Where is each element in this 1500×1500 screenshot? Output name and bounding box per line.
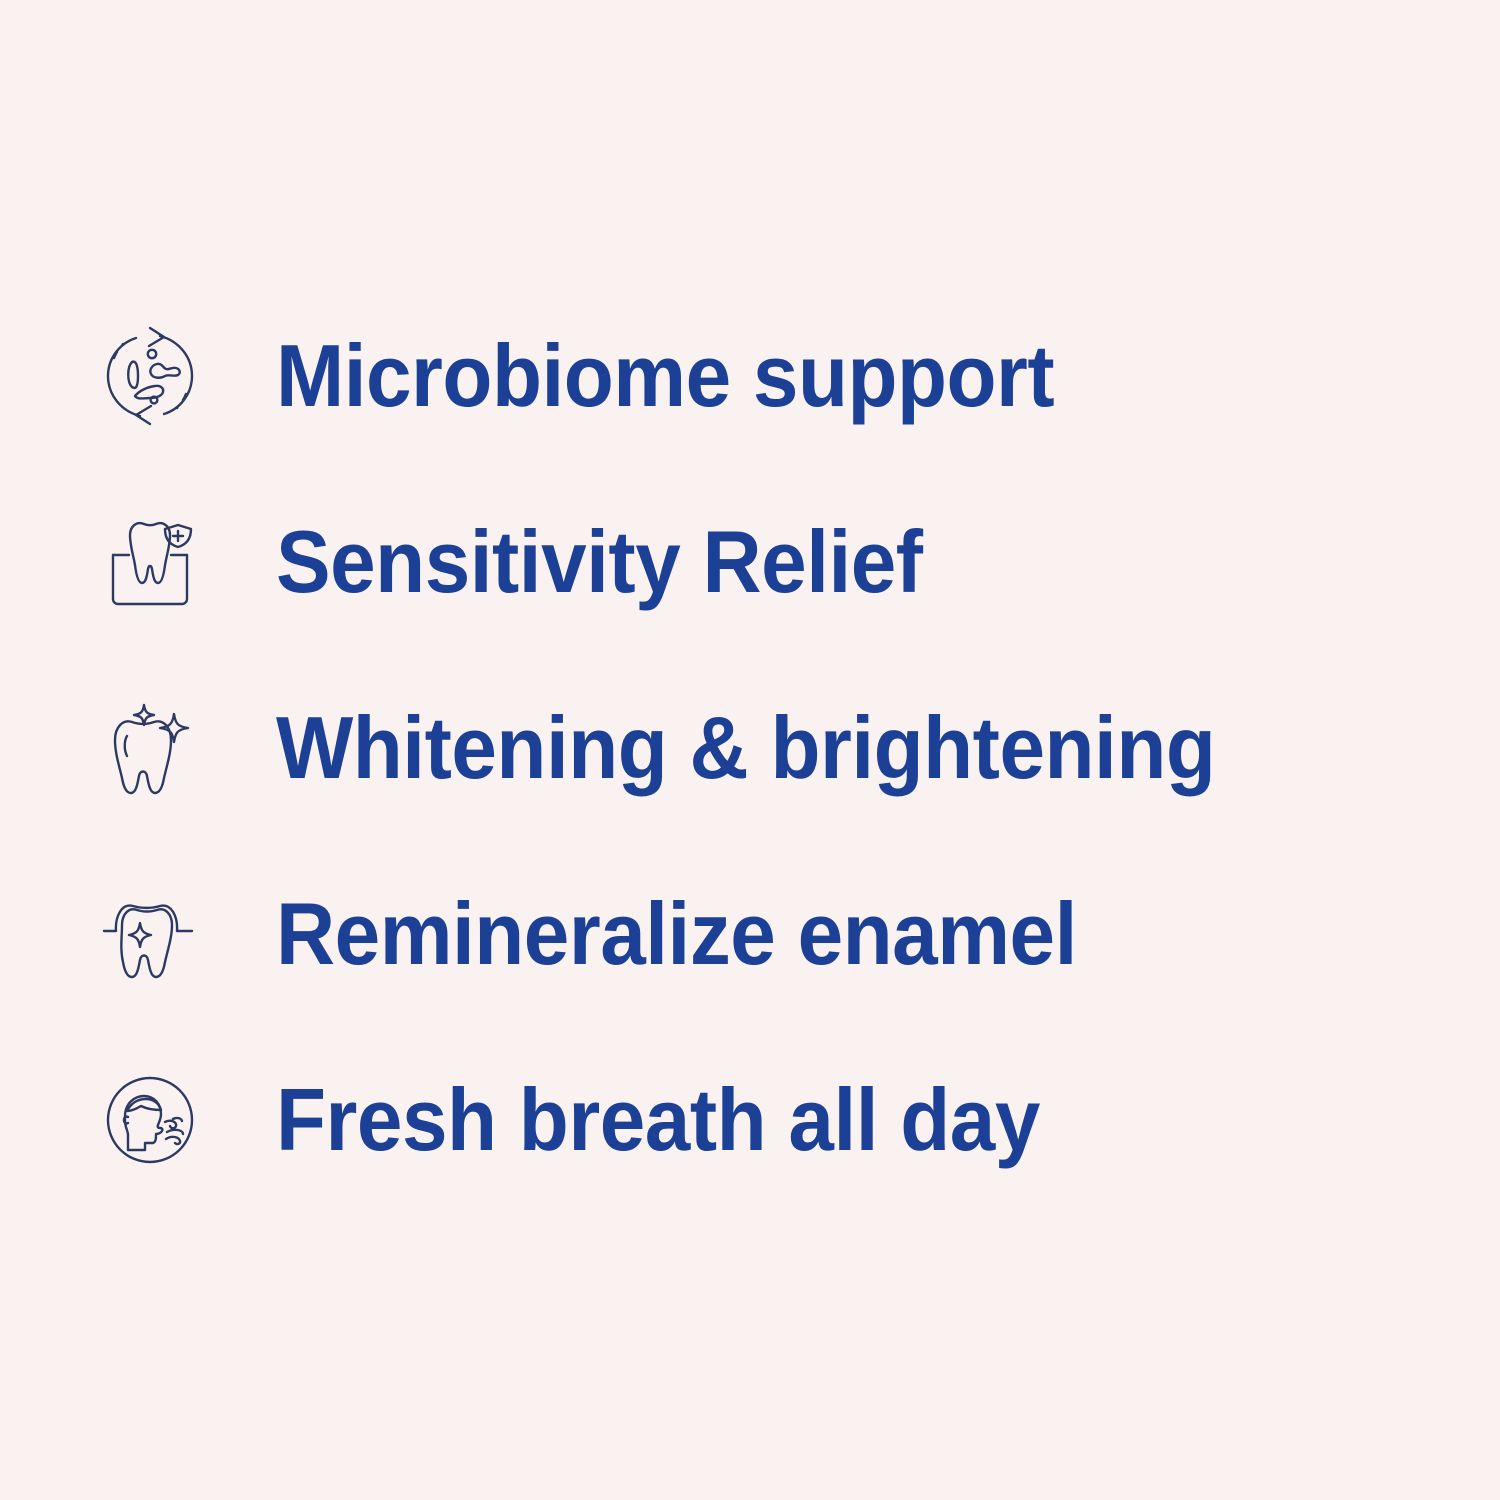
benefit-label-whitening-brightening: Whitening & brightening bbox=[276, 704, 1215, 792]
benefit-label-microbiome-support: Microbiome support bbox=[276, 332, 1054, 420]
benefits-panel: Microbiome support Sensitivity Relie bbox=[0, 0, 1500, 1500]
tooth-enamel-layer-icon bbox=[100, 879, 200, 989]
fresh-breath-head-icon bbox=[100, 1065, 200, 1175]
benefit-label-remineralize-enamel: Remineralize enamel bbox=[276, 890, 1077, 978]
benefit-row-microbiome-support: Microbiome support bbox=[100, 283, 1420, 469]
tooth-gum-shield-icon bbox=[100, 507, 200, 617]
benefit-row-sensitivity-relief: Sensitivity Relief bbox=[100, 469, 1420, 655]
microbiome-cycle-icon bbox=[100, 321, 200, 431]
benefit-label-fresh-breath-all-day: Fresh breath all day bbox=[276, 1076, 1040, 1164]
benefit-list: Microbiome support Sensitivity Relie bbox=[100, 283, 1420, 1213]
benefit-row-remineralize-enamel: Remineralize enamel bbox=[100, 841, 1420, 1027]
benefit-row-fresh-breath-all-day: Fresh breath all day bbox=[100, 1027, 1420, 1213]
benefit-label-sensitivity-relief: Sensitivity Relief bbox=[276, 518, 923, 606]
tooth-sparkle-icon bbox=[100, 693, 200, 803]
benefit-row-whitening-brightening: Whitening & brightening bbox=[100, 655, 1420, 841]
